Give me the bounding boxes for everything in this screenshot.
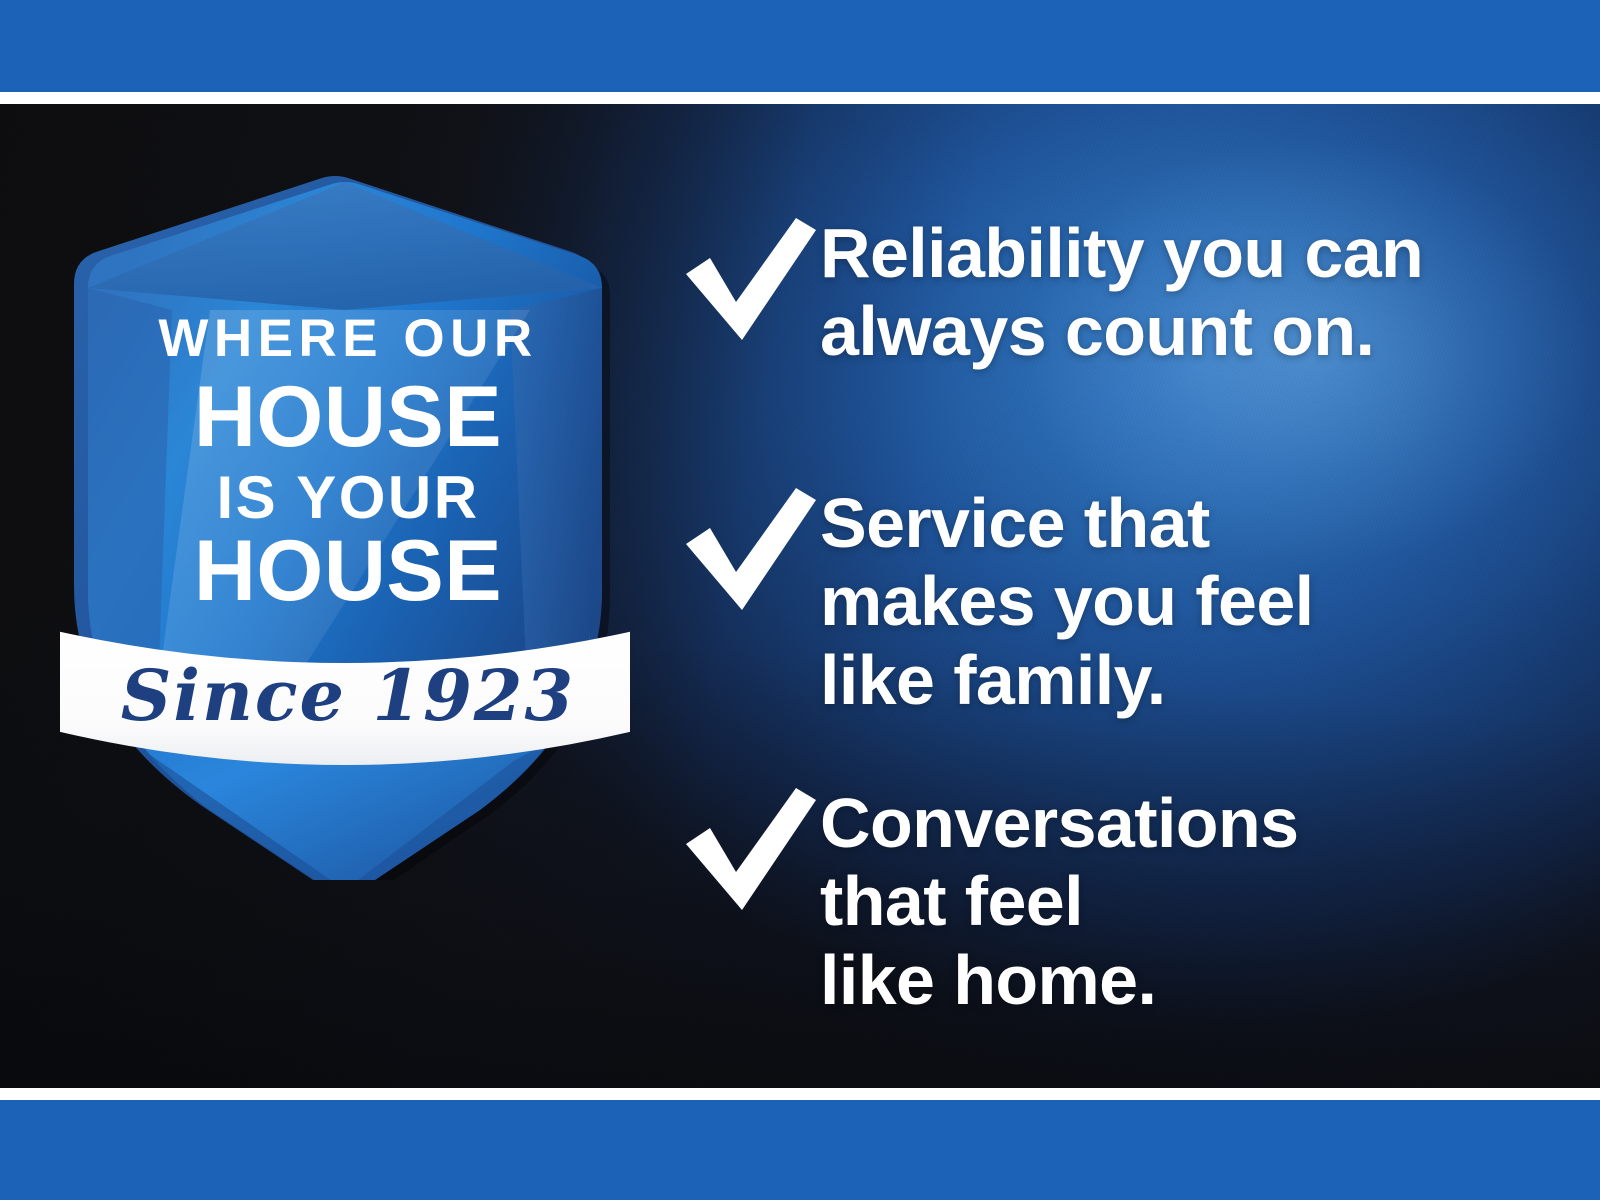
top-brand-bar (0, 0, 1600, 92)
bottom-brand-bar (0, 1100, 1600, 1200)
benefit-text-1: Reliability you can always count on. (820, 214, 1423, 371)
emblem-line-3: IS YOUR (216, 464, 479, 531)
checkmark-icon (680, 216, 820, 344)
emblem-ribbon-text: Since 1923 (121, 654, 575, 737)
checkmark-icon (680, 486, 820, 614)
shield-emblem: WHERE OUR HOUSE IS YOUR HOUSE Since 1923 (60, 160, 630, 880)
bottom-bar-divider (0, 1088, 1600, 1100)
emblem-line-2: HOUSE (194, 369, 502, 465)
benefit-item-1: Reliability you can always count on. (680, 214, 1423, 371)
benefit-item-2: Service that makes you feel like family. (680, 484, 1314, 719)
top-bar-divider (0, 92, 1600, 104)
emblem-line-4: HOUSE (194, 523, 502, 619)
benefit-text-3: Conversations that feel like home. (820, 784, 1298, 1019)
promo-poster: WHERE OUR HOUSE IS YOUR HOUSE Since 1923… (0, 0, 1600, 1200)
checkmark-icon (680, 786, 820, 914)
benefit-item-3: Conversations that feel like home. (680, 784, 1298, 1019)
benefits-list: Reliability you can always count on. Ser… (680, 104, 1560, 1088)
emblem-line-1: WHERE OUR (158, 309, 537, 368)
benefit-text-2: Service that makes you feel like family. (820, 484, 1314, 719)
